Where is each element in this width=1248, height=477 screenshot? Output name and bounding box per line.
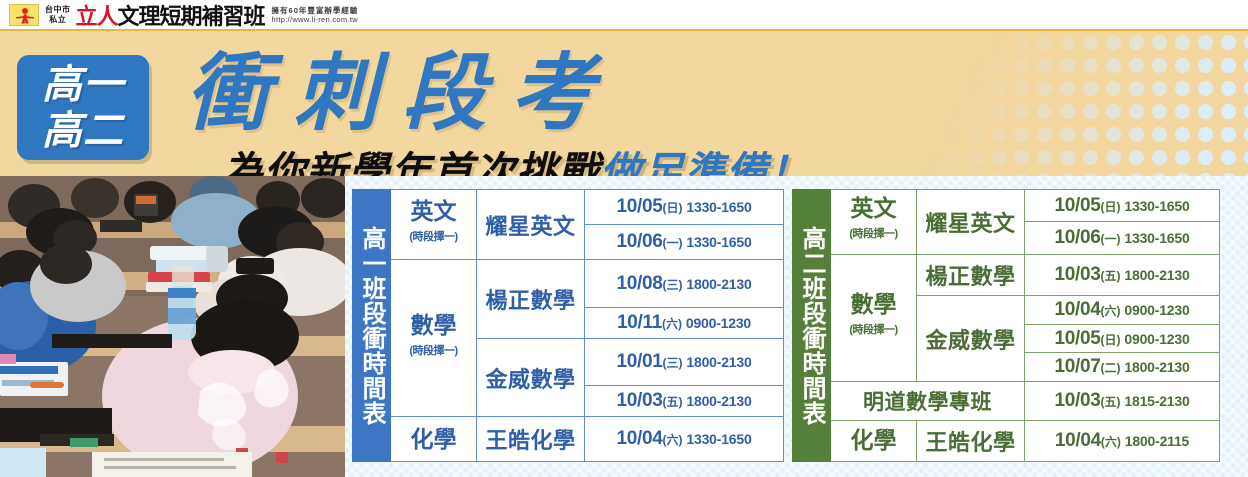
slot-time: 1800-2130 [686, 354, 751, 370]
table-row: 高二班段衝時間表 英文 (時段擇一) 耀星英文 10/05(日) 1330-16… [793, 190, 1220, 222]
class-cell: 金威數學 [917, 296, 1025, 382]
class-cell: 耀星英文 [477, 190, 585, 260]
slot-date: 10/04 [616, 428, 662, 449]
slot-date: 10/03 [616, 390, 662, 411]
slot-date: 10/06 [616, 231, 662, 252]
poster-root: 台中市 私立 立人文理短期補習班 擁有60年豐富辦學經驗 http://www.… [0, 0, 1248, 477]
class-cell: 王皓化學 [477, 417, 585, 462]
schedule-table-grade1: 高一班段衝時間表 英文 (時段擇一) 耀星英文 10/05(日) 1330-16… [352, 189, 784, 462]
hero-banner: 高一 高二 衝刺段考 為你新學年首次挑戰做足準備！ [0, 31, 1248, 176]
table-row: 化學 王皓化學 10/04(六) 1330-1650 [353, 417, 784, 462]
slot-cell: 10/05(日) 1330-1650 [1025, 190, 1220, 222]
vhead-text: 高二班段衝時間表 [798, 226, 825, 426]
slot-cell: 10/11(六) 0900-1230 [585, 307, 784, 338]
slot-date: 10/05 [1054, 328, 1100, 349]
subject-cell: 英文 (時段擇一) [831, 190, 917, 255]
class-cell: 耀星英文 [917, 190, 1025, 255]
slot-date: 10/11 [617, 312, 662, 333]
schedule-table-grade2-wrap: 高二班段衝時間表 英文 (時段擇一) 耀星英文 10/05(日) 1330-16… [792, 189, 1220, 462]
slot-weekday: (六) [1101, 435, 1121, 449]
slot-date: 10/07 [1054, 356, 1100, 377]
slot-time: 0900-1230 [686, 315, 751, 331]
slot-time: 1800-2115 [1125, 433, 1189, 449]
slot-time: 1330-1650 [686, 199, 751, 215]
subject-note: (時段擇一) [833, 222, 914, 247]
slot-time: 1800-2130 [686, 276, 751, 292]
table-row: 化學 王皓化學 10/04(六) 1800-2115 [793, 420, 1220, 461]
subject-name: 數學 [851, 291, 897, 317]
subject-cell: 英文 (時段擇一) [391, 190, 477, 260]
grade-badge-line2: 高二 [42, 109, 124, 153]
slot-cell: 10/04(六) 1800-2115 [1025, 420, 1220, 461]
slot-time: 0900-1230 [1124, 331, 1189, 347]
subject-cell: 數學 (時段擇一) [391, 260, 477, 417]
logo-tagline: 擁有60年豐富辦學經驗 [272, 6, 359, 15]
subject-name: 英文 [851, 195, 897, 221]
slot-date: 10/03 [1054, 390, 1100, 411]
logo-name-black: 文理短期補習班 [118, 4, 265, 29]
slot-date: 10/03 [1054, 264, 1100, 285]
person-mark-icon [9, 4, 39, 26]
table-row: 數學 (時段擇一) 楊正數學 10/03(五) 1800-2130 [793, 254, 1220, 295]
subject-note: (時段擇一) [393, 339, 474, 364]
schedule-table-grade2: 高二班段衝時間表 英文 (時段擇一) 耀星英文 10/05(日) 1330-16… [792, 189, 1220, 462]
slot-weekday: (一) [663, 236, 683, 250]
slot-time: 1330-1650 [1124, 198, 1189, 214]
slot-time: 1800-2130 [1124, 359, 1189, 375]
slot-cell: 10/03(五) 1800-2130 [585, 386, 784, 417]
logo-city-line1: 台中市 [45, 5, 71, 15]
logo-school-name: 立人文理短期補習班 [76, 0, 265, 31]
slot-time: 1815-2130 [1124, 393, 1189, 409]
slot-cell: 10/06(一) 1330-1650 [1025, 222, 1220, 254]
class-cell: 金威數學 [477, 338, 585, 416]
table-vertical-header-grade2: 高二班段衝時間表 [793, 190, 831, 462]
slot-date: 10/05 [1054, 195, 1100, 216]
subject-name: 數學 [411, 312, 457, 338]
slot-weekday: (六) [662, 317, 682, 331]
slot-cell: 10/05(日) 1330-1650 [585, 190, 784, 225]
slot-date: 10/04 [1055, 430, 1101, 451]
slot-time: 1330-1650 [1124, 230, 1189, 246]
hero-subtitle: 為你新學年首次挑戰做足準備！ [222, 149, 810, 176]
slot-date: 10/04 [1054, 299, 1100, 320]
slot-cell: 10/04(六) 1330-1650 [585, 417, 784, 462]
hero-subtitle-black: 為你新學年首次挑戰 [222, 149, 600, 176]
subject-name: 英文 [411, 198, 457, 224]
slot-weekday: (五) [1101, 269, 1121, 283]
table-row: 高一班段衝時間表 英文 (時段擇一) 耀星英文 10/05(日) 1330-16… [353, 190, 784, 225]
schedule-table-grade1-wrap: 高一班段衝時間表 英文 (時段擇一) 耀星英文 10/05(日) 1330-16… [352, 189, 784, 462]
slot-weekday: (日) [1101, 200, 1121, 214]
classroom-photo [0, 176, 345, 477]
class-cell: 楊正數學 [477, 260, 585, 338]
slot-weekday: (二) [1101, 361, 1121, 375]
slot-weekday: (一) [1101, 232, 1121, 246]
hero-subtitle-blue: 做足準備！ [600, 149, 810, 176]
logo-url[interactable]: http://www.li-ren.com.tw [272, 15, 359, 24]
logo-city-label: 台中市 私立 [45, 5, 71, 25]
grade-badge: 高一 高二 [17, 55, 149, 160]
slot-cell: 10/06(一) 1330-1650 [585, 225, 784, 260]
slot-date: 10/05 [616, 196, 662, 217]
slot-cell: 10/04(六) 0900-1230 [1025, 296, 1220, 325]
halftone-dots-decoration [918, 31, 1248, 176]
site-logo-bar: 台中市 私立 立人文理短期補習班 擁有60年豐富辦學經驗 http://www.… [0, 0, 1248, 31]
slot-weekday: (六) [1101, 304, 1121, 318]
logo-city-line2: 私立 [45, 15, 71, 25]
slot-cell: 10/05(日) 0900-1230 [1025, 324, 1220, 353]
vhead-text: 高一班段衝時間表 [358, 226, 385, 426]
logo-name-red: 立人 [76, 4, 118, 29]
subject-note: (時段擇一) [393, 225, 474, 250]
slot-weekday: (三) [663, 356, 683, 370]
slot-weekday: (三) [663, 278, 683, 292]
grade-badge-line1: 高一 [42, 63, 124, 107]
slot-cell: 10/07(二) 1800-2130 [1025, 353, 1220, 382]
hero-title: 衝刺段考 [186, 47, 618, 139]
class-cell: 楊正數學 [917, 254, 1025, 295]
slot-cell: 10/08(三) 1800-2130 [585, 260, 784, 307]
subject-cell: 數學 (時段擇一) [831, 254, 917, 381]
slot-time: 1800-2130 [1124, 267, 1189, 283]
subject-cell: 化學 [391, 417, 477, 462]
table-row: 明道數學專班 10/03(五) 1815-2130 [793, 382, 1220, 421]
slot-weekday: (日) [1101, 333, 1121, 347]
slot-weekday: (日) [663, 201, 683, 215]
slot-cell: 10/03(五) 1815-2130 [1025, 382, 1220, 421]
slot-date: 10/01 [616, 351, 662, 372]
class-cell: 王皓化學 [917, 420, 1025, 461]
class-cell: 明道數學專班 [831, 382, 1025, 421]
slot-cell: 10/03(五) 1800-2130 [1025, 254, 1220, 295]
slot-date: 10/08 [616, 273, 662, 294]
slot-time: 1800-2130 [686, 393, 751, 409]
logo-tagline-block: 擁有60年豐富辦學經驗 http://www.li-ren.com.tw [272, 6, 359, 24]
subject-note: (時段擇一) [833, 318, 914, 343]
slot-weekday: (五) [1101, 395, 1121, 409]
slot-time: 1330-1650 [686, 431, 751, 447]
slot-cell: 10/01(三) 1800-2130 [585, 338, 784, 385]
slot-time: 0900-1230 [1124, 302, 1189, 318]
slot-date: 10/06 [1054, 227, 1100, 248]
table-row: 數學 (時段擇一) 楊正數學 10/08(三) 1800-2130 [353, 260, 784, 307]
subject-cell: 化學 [831, 420, 917, 461]
slot-weekday: (五) [663, 395, 683, 409]
table-vertical-header-grade1: 高一班段衝時間表 [353, 190, 391, 462]
slot-weekday: (六) [663, 433, 683, 447]
slot-time: 1330-1650 [686, 234, 751, 250]
